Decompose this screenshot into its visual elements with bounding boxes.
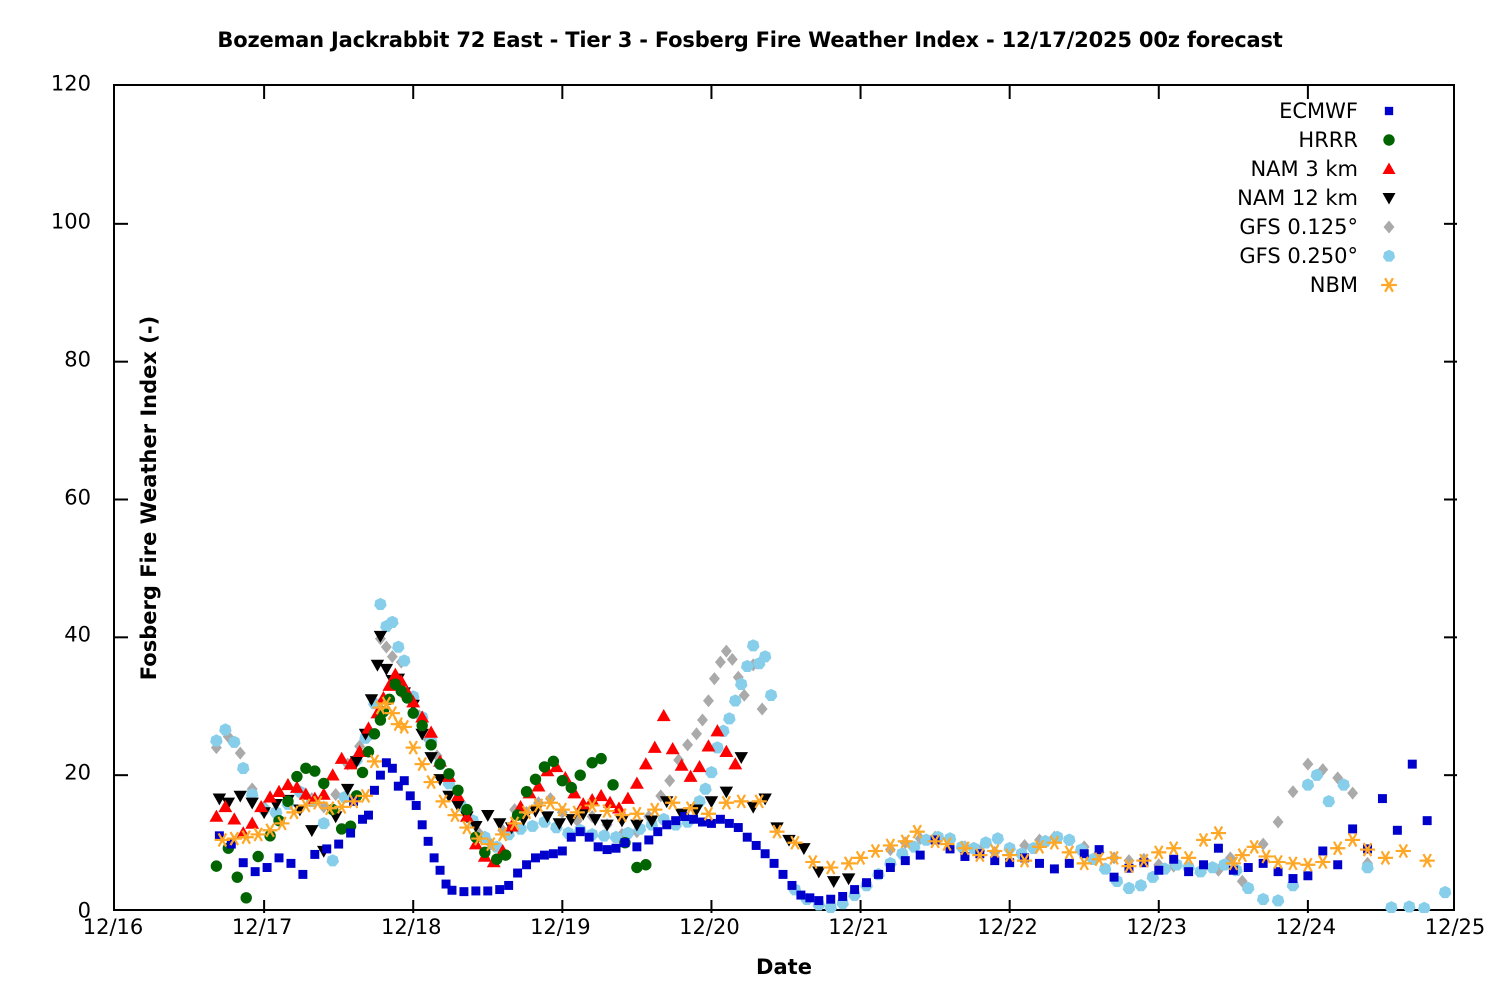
x-axis-label: Date bbox=[113, 955, 1455, 979]
y-axis-label: Fosberg Fire Weather Index (-) bbox=[137, 98, 161, 898]
y-tick-label: 100 bbox=[31, 211, 91, 232]
legend-label: NBM bbox=[1310, 273, 1376, 297]
legend-label: ECMWF bbox=[1279, 99, 1376, 123]
legend-item-nbm[interactable]: NBM bbox=[1150, 270, 1402, 299]
x-axis-tick-labels: 12/1612/1712/1812/1912/2012/2112/2212/23… bbox=[0, 915, 1500, 955]
legend-marker-asterisk-icon bbox=[1376, 272, 1402, 298]
y-tick-label: 40 bbox=[31, 625, 91, 646]
legend-item-nam-3-km[interactable]: NAM 3 km bbox=[1150, 154, 1402, 183]
legend-item-gfs-0-125[interactable]: GFS 0.125° bbox=[1150, 212, 1402, 241]
x-tick-label: 12/22 bbox=[977, 915, 1038, 939]
chart-legend: ECMWFHRRRNAM 3 kmNAM 12 kmGFS 0.125°GFS … bbox=[1150, 96, 1402, 299]
x-tick-label: 12/24 bbox=[1276, 915, 1337, 939]
legend-label: GFS 0.125° bbox=[1239, 215, 1376, 239]
x-tick-label: 12/23 bbox=[1127, 915, 1188, 939]
legend-marker-heptagon-icon bbox=[1376, 243, 1402, 269]
legend-item-gfs-0-250[interactable]: GFS 0.250° bbox=[1150, 241, 1402, 270]
legend-label: NAM 3 km bbox=[1250, 157, 1376, 181]
legend-marker-triangle-down-icon bbox=[1376, 185, 1402, 211]
legend-label: NAM 12 km bbox=[1237, 186, 1376, 210]
legend-item-nam-12-km[interactable]: NAM 12 km bbox=[1150, 183, 1402, 212]
legend-marker-circle-icon bbox=[1376, 127, 1402, 153]
legend-item-hrrr[interactable]: HRRR bbox=[1150, 125, 1402, 154]
x-tick-label: 12/17 bbox=[232, 915, 293, 939]
x-tick-label: 12/21 bbox=[828, 915, 889, 939]
x-tick-label: 12/25 bbox=[1425, 915, 1486, 939]
x-tick-label: 12/19 bbox=[530, 915, 591, 939]
y-tick-label: 120 bbox=[31, 74, 91, 95]
legend-marker-square-icon bbox=[1376, 98, 1402, 124]
chart-title: Bozeman Jackrabbit 72 East - Tier 3 - Fo… bbox=[0, 28, 1500, 52]
y-axis-tick-labels: 020406080100120 bbox=[33, 84, 103, 911]
legend-label: GFS 0.250° bbox=[1239, 244, 1376, 268]
legend-label: HRRR bbox=[1298, 128, 1376, 152]
x-tick-label: 12/18 bbox=[381, 915, 442, 939]
y-tick-label: 20 bbox=[31, 763, 91, 784]
x-tick-label: 12/16 bbox=[83, 915, 144, 939]
y-tick-label: 80 bbox=[31, 349, 91, 370]
legend-item-ecmwf[interactable]: ECMWF bbox=[1150, 96, 1402, 125]
legend-marker-triangle-up-icon bbox=[1376, 156, 1402, 182]
x-tick-label: 12/20 bbox=[679, 915, 740, 939]
chart-page: Bozeman Jackrabbit 72 East - Tier 3 - Fo… bbox=[0, 0, 1500, 1000]
legend-marker-diamond-icon bbox=[1376, 214, 1402, 240]
y-tick-label: 60 bbox=[31, 487, 91, 508]
